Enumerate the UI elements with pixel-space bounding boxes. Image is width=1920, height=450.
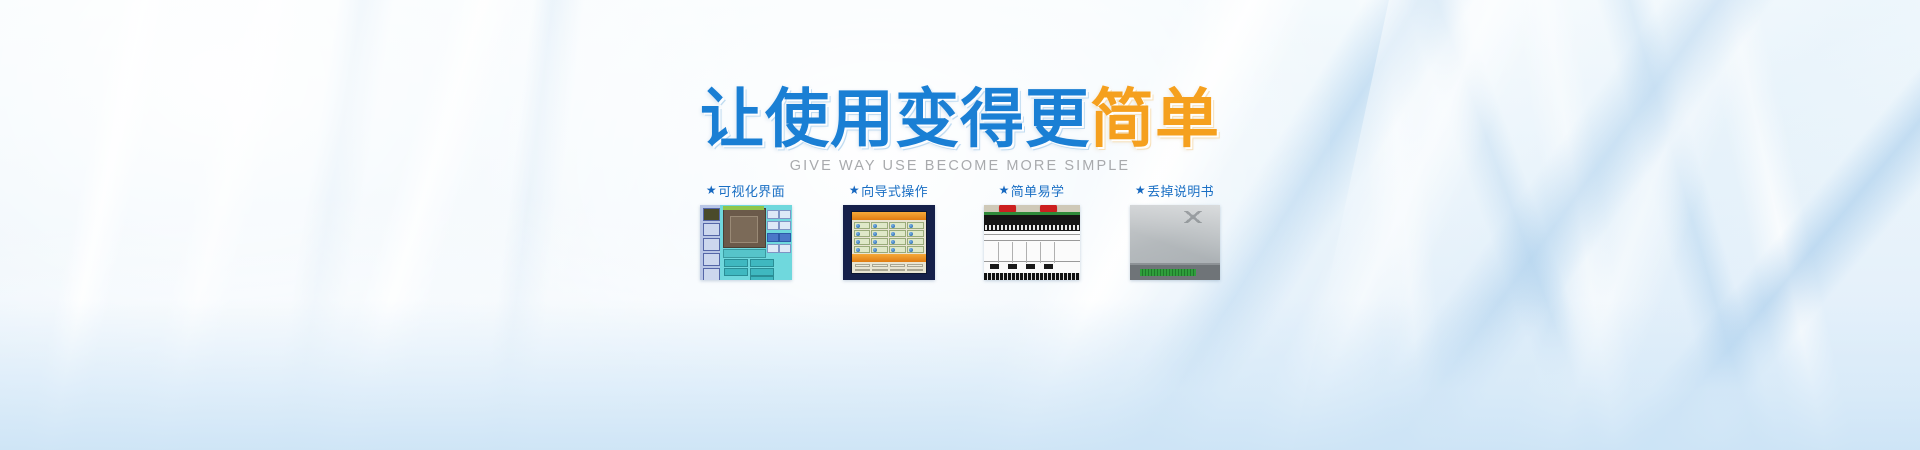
thumb-checkbox-row (750, 268, 774, 276)
star-icon: ★ (849, 184, 860, 196)
feature-label-text: 可视化界面 (718, 181, 785, 200)
feature-item-no-manual-needed[interactable]: ★ 丢掉说明书 (1119, 180, 1231, 280)
thumb-black-bar (984, 215, 1080, 231)
headline-blue-text: 让使用变得更 (700, 83, 1090, 157)
thumb-tool-button (767, 221, 779, 230)
thumb-top-strip (984, 205, 1080, 212)
feature-label-text: 简单易学 (1011, 181, 1065, 200)
thumb-top-bar (723, 206, 764, 210)
feature-thumbnail-wizard-panel[interactable] (843, 205, 935, 280)
thumb-tool-button (767, 233, 779, 242)
feature-label-text: 丢掉说明书 (1147, 181, 1214, 200)
thumb-panel-header (852, 212, 926, 220)
thumb-sidebar-button (703, 208, 720, 221)
thumb-tool-button (779, 210, 791, 219)
feature-label: ★ 向导式操作 (849, 180, 928, 200)
thumb-tool-button (779, 244, 791, 253)
thumb-tool-button (779, 233, 791, 242)
thumb-tool-button (779, 221, 791, 230)
thumb-sidebar-button (703, 238, 720, 251)
thumb-engraved-mark (1180, 211, 1206, 223)
promo-banner: 让使用变得更简单 GIVE WAY USE BECOME MORE SIMPLE… (0, 0, 1920, 450)
thumb-bottom-strip (984, 273, 1080, 280)
thumb-option-grid (854, 222, 924, 253)
thumb-preview-image (723, 208, 766, 248)
headline: 让使用变得更简单 (0, 88, 1920, 152)
thumb-sidebar-button (703, 223, 720, 236)
feature-label: ★ 可视化界面 (706, 180, 785, 200)
feature-label: ★ 简单易学 (999, 180, 1065, 200)
thumb-button-grid (855, 264, 923, 271)
banner-content: 让使用变得更简单 GIVE WAY USE BECOME MORE SIMPLE… (0, 0, 1920, 450)
thumb-checkbox-row (724, 259, 748, 267)
thumb-wiring-diagram (984, 231, 1080, 273)
headline-orange-text: 简单 (1090, 83, 1220, 157)
thumb-panel (851, 211, 927, 274)
subtitle: GIVE WAY USE BECOME MORE SIMPLE (0, 158, 1920, 174)
thumb-input-field (723, 249, 766, 258)
feature-label: ★ 丢掉说明书 (1135, 180, 1214, 200)
red-clamp-icon (1040, 205, 1057, 212)
star-icon: ★ (706, 184, 717, 196)
thumb-tool-button (767, 244, 779, 253)
thumb-checkbox-row (750, 259, 774, 267)
thumb-sidebar-button (703, 253, 720, 266)
thumb-checkbox-row (750, 276, 774, 280)
thumb-checkbox-row (724, 268, 748, 276)
star-icon: ★ (999, 184, 1010, 196)
feature-item-visual-interface[interactable]: ★ 可视化界面 (690, 180, 802, 280)
star-icon: ★ (1135, 184, 1146, 196)
thumb-metal-sheen (1130, 205, 1220, 263)
feature-thumbnail-electrical-panel[interactable] (984, 205, 1080, 280)
green-connector-icon (1140, 269, 1196, 276)
feature-thumbnail-software-ui[interactable] (700, 205, 792, 280)
thumb-panel-subheader (852, 254, 926, 262)
thumb-terminal-teeth (985, 225, 1079, 230)
feature-list: ★ 可视化界面 (0, 180, 1920, 280)
thumb-sidebar-button (703, 268, 720, 280)
feature-item-wizard-operation[interactable]: ★ 向导式操作 (833, 180, 945, 280)
feature-thumbnail-device-panel[interactable] (1130, 205, 1220, 280)
feature-item-easy-to-learn[interactable]: ★ 简单易学 (976, 180, 1088, 280)
red-clamp-icon (999, 205, 1016, 212)
feature-label-text: 向导式操作 (861, 181, 928, 200)
thumb-tool-button (767, 210, 779, 219)
